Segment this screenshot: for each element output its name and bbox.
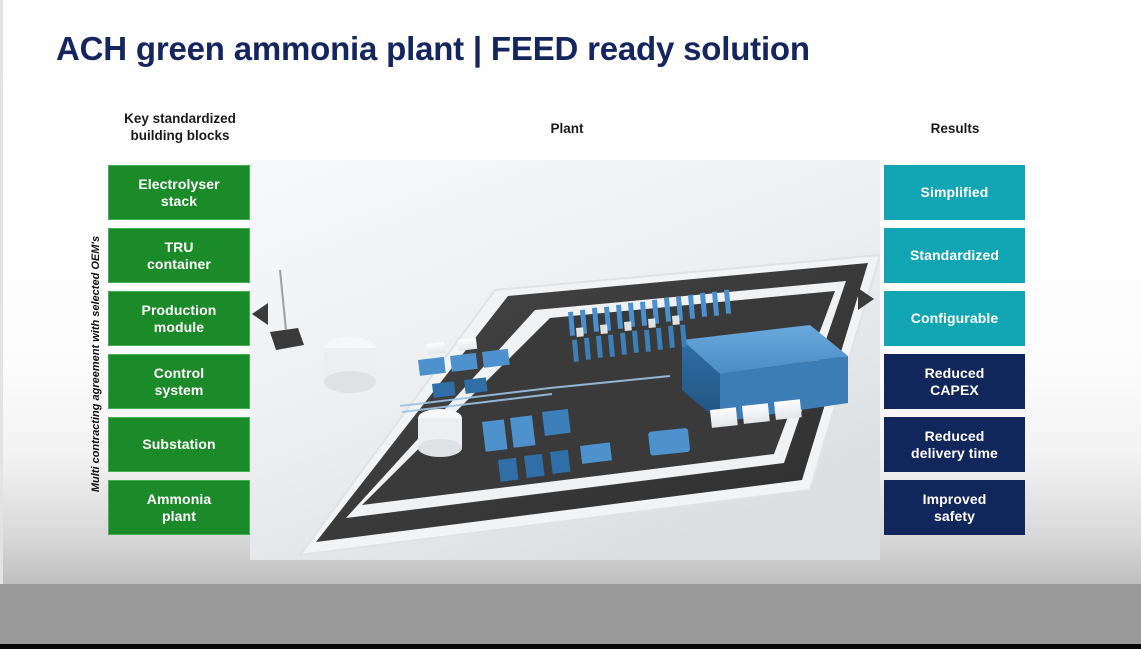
arrow-right-icon <box>858 288 874 310</box>
page-title: ACH green ammonia plant | FEED ready sol… <box>56 30 810 68</box>
column-header-left-line1: Key standardized <box>104 111 256 128</box>
arrow-left-icon <box>252 303 268 325</box>
building-block-tru-container[interactable]: TRU container <box>108 228 250 283</box>
plant-illustration <box>250 160 880 560</box>
plant-3d-render <box>250 160 880 560</box>
column-header-building-blocks: Key standardized building blocks <box>104 111 256 145</box>
video-player-window: ACH green ammonia plant | FEED ready sol… <box>0 0 1141 649</box>
result-label-line2: CAPEX <box>925 382 985 399</box>
block-label-line2: plant <box>147 508 212 525</box>
block-label-line2: module <box>142 319 217 336</box>
block-label-line2: system <box>154 382 204 399</box>
result-label-line1: Standardized <box>910 247 999 264</box>
results-column: Simplified Standardized Configurable Red… <box>884 165 1025 535</box>
column-header-plant: Plant <box>488 121 646 138</box>
building-block-ammonia-plant[interactable]: Ammonia plant <box>108 480 250 535</box>
result-simplified[interactable]: Simplified <box>884 165 1025 220</box>
block-label-line2: container <box>147 256 211 273</box>
result-standardized[interactable]: Standardized <box>884 228 1025 283</box>
result-label-line1: Reduced <box>925 365 985 382</box>
building-block-production-module[interactable]: Production module <box>108 291 250 346</box>
block-label-line1: Control <box>154 365 204 382</box>
building-block-electrolyser-stack[interactable]: Electrolyser stack <box>108 165 250 220</box>
result-label-line1: Reduced <box>911 428 998 445</box>
result-label-line2: delivery time <box>911 445 998 462</box>
result-configurable[interactable]: Configurable <box>884 291 1025 346</box>
result-label-line1: Simplified <box>921 184 989 201</box>
column-header-left-line2: building blocks <box>104 128 256 145</box>
player-control-bar: LIVE 9 AKER CLEAN HYDROGEN <box>0 584 1141 644</box>
block-label-line1: Electrolyser <box>138 176 219 193</box>
result-label-line2: safety <box>923 508 987 525</box>
block-label-line1: Ammonia <box>147 491 212 508</box>
result-label-line1: Improved <box>923 491 987 508</box>
block-label-line1: Production <box>142 302 217 319</box>
result-improved-safety[interactable]: Improved safety <box>884 480 1025 535</box>
result-reduced-delivery-time[interactable]: Reduced delivery time <box>884 417 1025 472</box>
result-reduced-capex[interactable]: Reduced CAPEX <box>884 354 1025 409</box>
presentation-slide: ACH green ammonia plant | FEED ready sol… <box>0 0 1141 584</box>
side-rail-note: Multi contracting agreement with selecte… <box>90 234 102 494</box>
block-label-line1: TRU <box>147 239 211 256</box>
block-label-line1: Substation <box>142 436 215 453</box>
block-label-line2: stack <box>138 193 219 210</box>
building-blocks-column: Electrolyser stack TRU container Product… <box>108 165 250 535</box>
building-block-substation[interactable]: Substation <box>108 417 250 472</box>
column-header-results: Results <box>880 121 1030 138</box>
building-block-control-system[interactable]: Control system <box>108 354 250 409</box>
result-label-line1: Configurable <box>911 310 999 327</box>
